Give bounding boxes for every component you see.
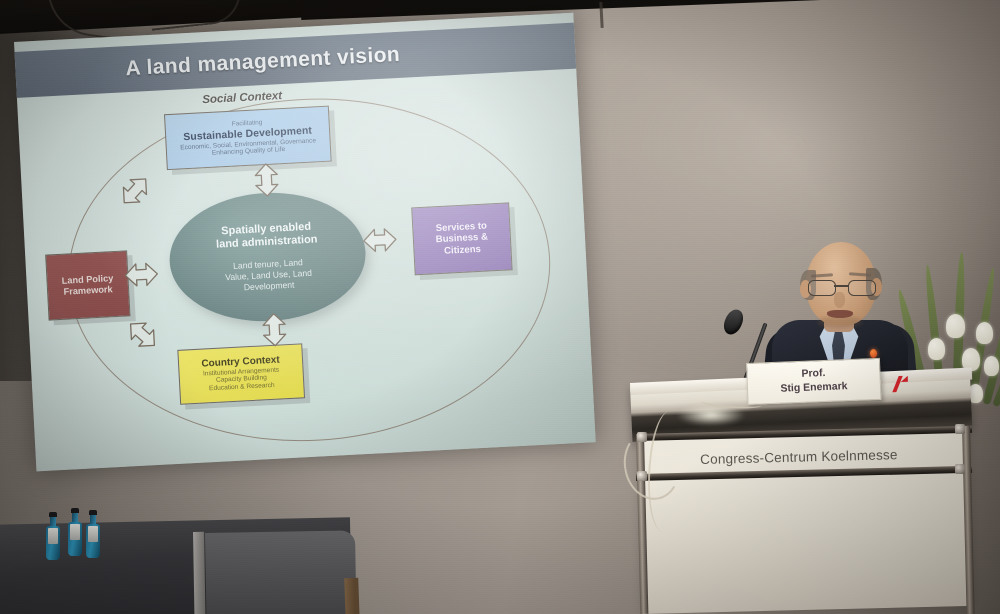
- projected-slide: A land management vision Social Context …: [14, 13, 596, 472]
- arrow-up-icon: [253, 162, 281, 197]
- nose: [834, 292, 845, 308]
- nameplate-name: Stig Enemark: [780, 380, 848, 396]
- desk-edge-right: [344, 578, 360, 614]
- arrow-left-icon: [124, 261, 159, 289]
- desk-side-panel: [205, 530, 357, 614]
- lectern-joint-tr: [955, 424, 965, 434]
- koelnmesse-logo-icon: [889, 373, 912, 396]
- projection-screen: A land management vision Social Context …: [14, 12, 607, 491]
- bottle-neck-1: [50, 517, 56, 526]
- glasses-bridge: [834, 285, 848, 287]
- desk-divider: [193, 532, 206, 614]
- chin-shadow: [818, 316, 862, 328]
- nameplate-title: Prof.: [801, 367, 825, 382]
- slide-title: A land management vision: [125, 43, 401, 81]
- bottle-neck-2: [72, 513, 78, 522]
- land-policy-box: Land Policy Framework: [45, 250, 130, 320]
- lens-right: [848, 280, 876, 296]
- water-bottle-3: [86, 510, 100, 558]
- bottle-label-1: [48, 528, 58, 544]
- sustainable-development-box: Facilitating Sustainable Development Eco…: [164, 106, 332, 171]
- arrow-down-icon: [261, 312, 289, 347]
- lapel-pin-icon: [870, 349, 877, 358]
- water-bottle-1: [46, 512, 60, 560]
- water-bottle-2: [68, 508, 82, 556]
- bottle-neck-3: [90, 515, 96, 524]
- slide-diagram: Social Context Facilitating Sustainable …: [17, 71, 596, 472]
- conference-photo-scene: A land management vision Social Context …: [0, 0, 1000, 614]
- services-box: Services to Business & Citizens: [411, 202, 512, 275]
- bottle-label-3: [88, 526, 98, 542]
- lectern-joint-mr: [955, 464, 965, 474]
- arrow-right-icon: [362, 226, 397, 254]
- lens-left: [808, 280, 836, 296]
- speaker-nameplate: Prof. Stig Enemark: [746, 358, 882, 405]
- bottle-label-2: [70, 524, 80, 540]
- country-context-box: Country Context Institutional Arrangemen…: [177, 343, 305, 404]
